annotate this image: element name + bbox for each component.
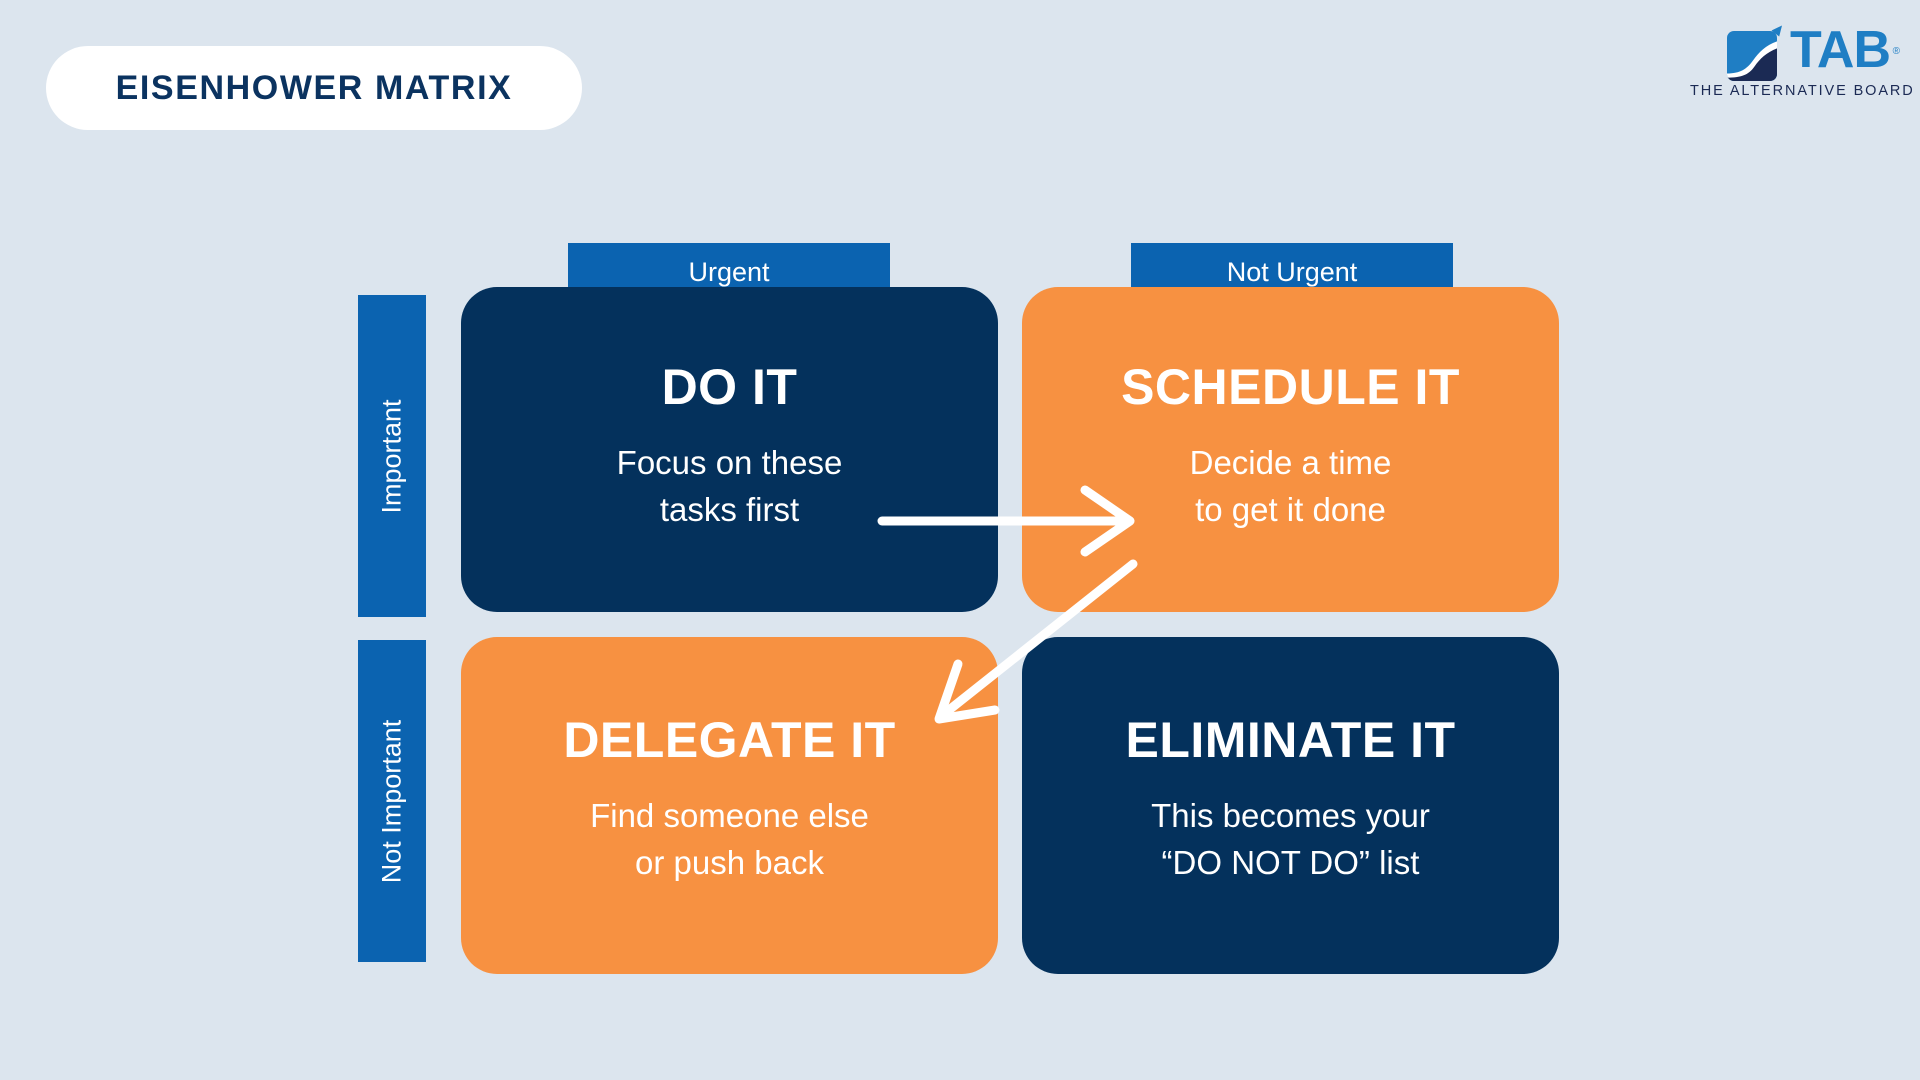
quadrant-schedule-it-title: SCHEDULE IT [1121, 362, 1460, 412]
quadrant-eliminate-it-title: ELIMINATE IT [1125, 715, 1455, 765]
quadrant-eliminate-it-description: This becomes your “DO NOT DO” list [1151, 793, 1430, 887]
tab-logo-wordmark: TAB® [1790, 22, 1890, 78]
column-header-urgent-label: Urgent [688, 259, 769, 286]
tab-logo-word-text: TAB [1790, 21, 1890, 79]
row-header-not-important-label: Not Important [379, 719, 406, 883]
quadrant-delegate-it-title: DELEGATE IT [563, 715, 895, 765]
page-title: EISENHOWER MATRIX [116, 71, 513, 105]
row-header-important: Important [358, 295, 426, 617]
quadrant-delegate-it: DELEGATE IT Find someone else or push ba… [461, 637, 998, 974]
tab-logo-mark-icon [1726, 24, 1784, 82]
tab-logo-tagline: THE ALTERNATIVE BOARD [1690, 83, 1890, 99]
tab-logo: TAB® THE ALTERNATIVE BOARD [1690, 22, 1890, 106]
row-header-not-important: Not Important [358, 640, 426, 962]
row-header-important-label: Important [379, 399, 406, 513]
quadrant-do-it-description: Focus on these tasks first [617, 440, 843, 534]
quadrant-delegate-it-description: Find someone else or push back [590, 793, 869, 887]
quadrant-eliminate-it: ELIMINATE IT This becomes your “DO NOT D… [1022, 637, 1559, 974]
quadrant-do-it: DO IT Focus on these tasks first [461, 287, 998, 612]
page-title-pill: EISENHOWER MATRIX [46, 46, 582, 130]
eisenhower-matrix-canvas: EISENHOWER MATRIX [0, 0, 1920, 1080]
logo-row: TAB® [1690, 22, 1890, 80]
column-header-not-urgent-label: Not Urgent [1227, 259, 1358, 286]
registered-mark: ® [1893, 24, 1899, 80]
quadrant-do-it-title: DO IT [662, 362, 798, 412]
quadrant-schedule-it-description: Decide a time to get it done [1190, 440, 1392, 534]
quadrant-schedule-it: SCHEDULE IT Decide a time to get it done [1022, 287, 1559, 612]
